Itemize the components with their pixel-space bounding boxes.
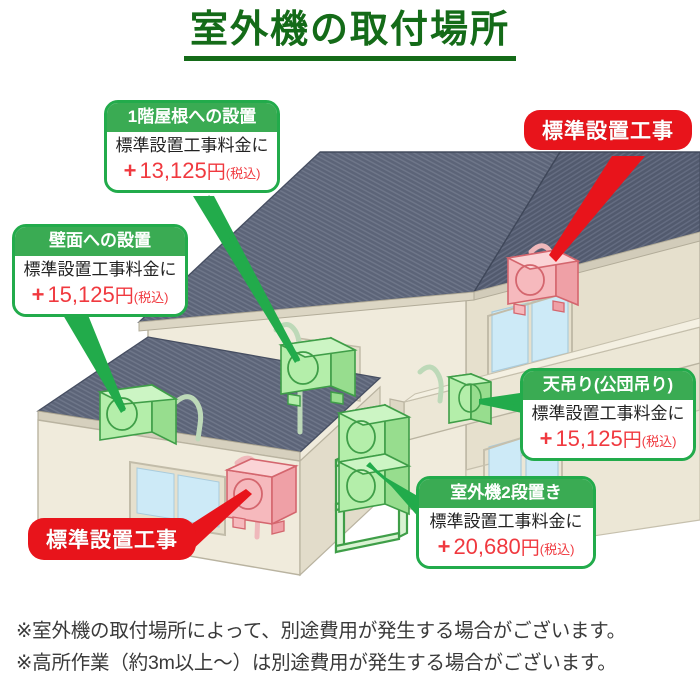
price-tax-note: (税込) <box>226 166 261 181</box>
house-illustration <box>0 0 700 700</box>
callout-line1-wall-mount: 標準設置工事料金に <box>21 260 179 280</box>
callout-body-wall-mount: 標準設置工事料金に +15,125円(税込) <box>15 256 185 314</box>
price-yen-unit: 円 <box>207 162 226 183</box>
price-yen-unit: 円 <box>623 430 642 451</box>
price-plus-sign: + <box>32 282 45 307</box>
callout-heading-roof-first-floor: 1階屋根への設置 <box>107 103 277 132</box>
badge-standard-install-bottom-left[interactable]: 標準設置工事 <box>28 518 196 560</box>
callout-wall-mount[interactable]: 壁面への設置 標準設置工事料金に +15,125円(税込) <box>12 224 188 317</box>
callout-heading-two-stack: 室外機2段置き <box>419 479 593 508</box>
price-plus-sign: + <box>124 158 137 183</box>
callout-line1-two-stack: 標準設置工事料金に <box>425 512 587 532</box>
callout-heading-wall-mount: 壁面への設置 <box>15 227 185 256</box>
callout-two-stack[interactable]: 室外機2段置き 標準設置工事料金に +20,680円(税込) <box>416 476 596 569</box>
callout-price-ceiling-hung: +15,125円(税込) <box>529 425 687 453</box>
price-tax-note: (税込) <box>540 542 575 557</box>
callout-roof-first-floor[interactable]: 1階屋根への設置 標準設置工事料金に +13,125円(税込) <box>104 100 280 193</box>
page-title: 室外機の取付場所 <box>0 10 700 61</box>
callout-price-two-stack: +20,680円(税込) <box>425 533 587 561</box>
callout-price-wall-mount: +15,125円(税込) <box>21 281 179 309</box>
price-yen-unit: 円 <box>521 538 540 559</box>
price-tax-note: (税込) <box>134 290 169 305</box>
callout-line1-ceiling-hung: 標準設置工事料金に <box>529 404 687 424</box>
price-plus-sign: + <box>438 534 451 559</box>
callout-body-ceiling-hung: 標準設置工事料金に +15,125円(税込) <box>523 400 693 458</box>
callout-ceiling-hung[interactable]: 天吊り(公団吊り) 標準設置工事料金に +15,125円(税込) <box>520 368 696 461</box>
price-plus-sign: + <box>540 426 553 451</box>
callout-body-two-stack: 標準設置工事料金に +20,680円(税込) <box>419 508 593 566</box>
footnotes: ※室外機の取付場所によって、別途費用が発生する場合がございます。 ※高所作業（約… <box>16 616 626 679</box>
price-amount: 15,125 <box>47 282 114 307</box>
price-amount: 15,125 <box>555 426 622 451</box>
page-title-text: 室外機の取付場所 <box>184 10 516 61</box>
footnote-line-1: ※室外機の取付場所によって、別途費用が発生する場合がございます。 <box>16 616 626 648</box>
callout-body-roof-first-floor: 標準設置工事料金に +13,125円(税込) <box>107 132 277 190</box>
callout-heading-ceiling-hung: 天吊り(公団吊り) <box>523 371 693 400</box>
illustration-stage: 室外機の取付場所 1階屋根への設置 標準設置工事料金に +13,125円(税込)… <box>0 0 700 700</box>
callout-price-roof-first-floor: +13,125円(税込) <box>113 157 271 185</box>
price-tax-note: (税込) <box>642 434 677 449</box>
price-amount: 13,125 <box>139 158 206 183</box>
footnote-line-2: ※高所作業（約3m以上〜）は別途費用が発生する場合がございます。 <box>16 648 626 680</box>
price-yen-unit: 円 <box>115 286 134 307</box>
price-amount: 20,680 <box>453 534 520 559</box>
badge-standard-install-top-right[interactable]: 標準設置工事 <box>524 110 692 150</box>
callout-line1-roof-first-floor: 標準設置工事料金に <box>113 136 271 156</box>
